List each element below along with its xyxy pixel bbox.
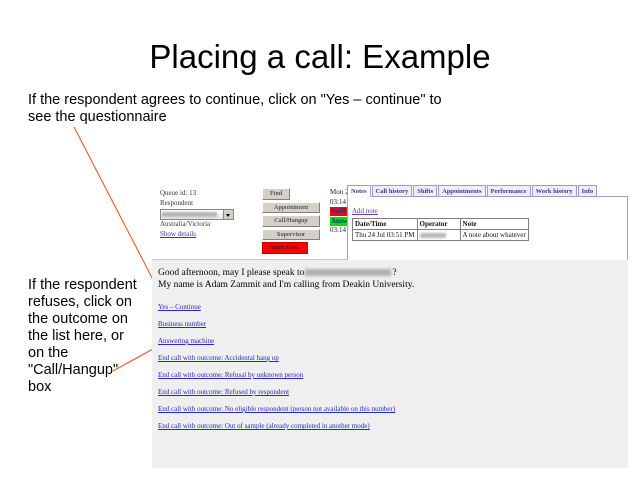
column-header-operator: Operator [417,219,460,230]
call-script-area: Good afternoon, may I please speak to? M… [152,260,628,468]
cell-datetime: Thu 24 Jul 03:51 PM [353,230,418,241]
column-header-datetime: Date/Time [353,219,418,230]
tab-shifts[interactable]: Shifts [413,185,437,196]
tab-call-history[interactable]: Call history [372,185,413,196]
table-row[interactable]: Thu 24 Jul 03:51 PM A note about whateve… [353,230,529,241]
respondent-name-redacted-inline [305,269,391,276]
tab-bar-filler [598,193,627,196]
show-details-link[interactable]: Show details [160,230,196,240]
table-header-row: Date/Time Operator Note [353,219,529,230]
outcome-link-refused-by-respondent[interactable]: End call with outcome: Refused by respon… [158,388,628,396]
add-note-link[interactable]: Add note [352,207,378,215]
start-ddc-button[interactable]: Start DDC [262,242,308,254]
outcome-link-business-number[interactable]: Business number [158,320,628,328]
action-button-stack: Find Appointment Call/Hangup Supervisor … [262,188,320,256]
operator-name-redacted [420,233,446,238]
tab-notes[interactable]: Notes [347,185,371,197]
page-title: Placing a call: Example [0,38,640,76]
app-screenshot: Queue id: 13 Respondent Australia/Victor… [152,183,628,468]
tab-bar: Notes Call history Shifts Appointments P… [347,183,628,197]
side-instruction-text: If the respondent refuses, click on the … [28,277,138,396]
outcome-link-yes-continue[interactable]: Yes – Continue [158,303,628,311]
call-info-block: Queue id: 13 Respondent Australia/Victor… [160,189,255,239]
chevron-down-icon[interactable] [223,210,233,219]
queue-id-label: Queue id: 13 [160,189,255,199]
tab-work-history[interactable]: Work history [532,185,577,196]
script-line-1-suffix: ? [392,268,396,278]
tab-info[interactable]: Info [578,185,598,196]
call-hangup-button[interactable]: Call/Hangup [262,215,320,227]
column-header-note: Note [460,219,528,230]
respondent-name-redacted [162,212,217,217]
call-control-panel: Queue id: 13 Respondent Australia/Victor… [152,183,628,260]
outcome-link-answering-machine[interactable]: Answering machine [158,337,628,345]
cell-note: A note about whatever [460,230,528,241]
respondent-label: Respondent [160,199,255,209]
respondent-select[interactable] [160,209,234,220]
script-line-2: My name is Adam Zammit and I'm calling f… [158,279,628,291]
tab-appointments[interactable]: Appointments [438,185,485,196]
outcome-link-out-of-sample[interactable]: End call with outcome: Out of sample (al… [158,422,628,430]
find-button[interactable]: Find [262,188,290,200]
cell-operator [417,230,460,241]
intro-instruction-text: If the respondent agrees to continue, cl… [28,92,468,126]
script-line-1-prefix: Good afternoon, may I please speak to [158,268,304,278]
outcome-link-accidental-hang-up[interactable]: End call with outcome: Accidental hang u… [158,354,628,362]
timezone-label: Australia/Victoria [160,220,255,230]
supervisor-button[interactable]: Supervisor [262,229,320,241]
outcome-link-refusal-unknown-person[interactable]: End call with outcome: Refusal by unknow… [158,371,628,379]
appointment-button[interactable]: Appointment [262,202,320,214]
script-line-1: Good afternoon, may I please speak to? [158,267,628,279]
outcome-link-no-eligible-respondent[interactable]: End call with outcome: No eligible respo… [158,405,628,413]
arrow-to-script [74,127,163,299]
notes-table: Date/Time Operator Note Thu 24 Jul 03:51… [352,218,529,241]
tab-performance[interactable]: Performance [487,185,531,196]
